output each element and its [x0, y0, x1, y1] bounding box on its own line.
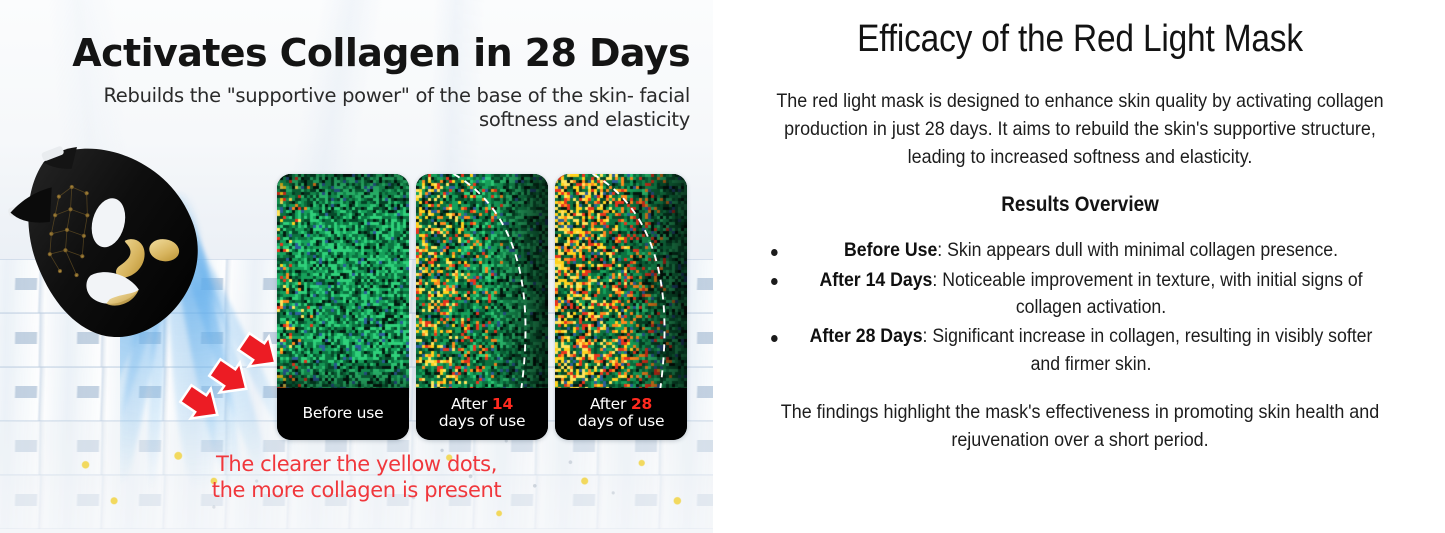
list-item: After 14 Days: Noticeable improvement in… [793, 267, 1388, 322]
result-panel: After 28days of use [555, 174, 687, 440]
promo-subtitle: Rebuilds the "supportive power" of the b… [60, 84, 690, 132]
promo-footer-line-1: The clearer the yellow dots, [0, 452, 713, 478]
list-item: Before Use: Skin appears dull with minim… [793, 237, 1388, 264]
promo-footer-line-2: the more collagen is present [0, 478, 713, 504]
intro-paragraph: The red light mask is designed to enhanc… [772, 87, 1388, 172]
list-item-text: : Noticeable improvement in texture, wit… [932, 270, 1362, 318]
page-title: Efficacy of the Red Light Mask [785, 18, 1375, 61]
results-panels: Before useAfter 14days of useAfter 28day… [277, 174, 687, 440]
list-item-term: After 14 Days [819, 270, 932, 291]
outro-paragraph: The findings highlight the mask's effect… [772, 398, 1388, 455]
result-panel: After 14days of use [416, 174, 548, 440]
list-item-term: After 28 Days [810, 326, 923, 347]
list-item: After 28 Days: Significant increase in c… [793, 323, 1388, 378]
bullet-marker [771, 335, 778, 342]
promo-headline-block: Activates Collagen in 28 Days Rebuilds t… [60, 34, 690, 131]
list-item-term: Before Use [844, 240, 937, 261]
panel-caption: Before use [277, 388, 409, 440]
document-panel: Efficacy of the Red Light Mask The red l… [713, 0, 1445, 533]
list-item-text: : Skin appears dull with minimal collage… [937, 240, 1338, 261]
promo-title: Activates Collagen in 28 Days [60, 34, 690, 73]
list-item-text: : Significant increase in collagen, resu… [923, 326, 1373, 374]
comparison-page: Activates Collagen in 28 Days Rebuilds t… [0, 0, 1445, 533]
promo-image: Activates Collagen in 28 Days Rebuilds t… [0, 0, 713, 533]
dashed-arc-marker [555, 174, 687, 392]
red-arrow-icon [236, 330, 282, 376]
results-list: Before Use: Skin appears dull with minim… [745, 237, 1415, 378]
result-panel: Before use [277, 174, 409, 440]
panel-caption: After 14days of use [416, 388, 548, 440]
promo-footer-note: The clearer the yellow dots, the more co… [0, 452, 713, 503]
microscopy-image [277, 174, 409, 392]
dashed-arc-marker [416, 174, 548, 392]
red-arrows-group [178, 330, 288, 430]
section-heading-results: Results Overview [779, 193, 1382, 217]
panel-caption: After 28days of use [555, 388, 687, 440]
bullet-marker [771, 249, 778, 256]
bullet-marker [771, 278, 778, 285]
